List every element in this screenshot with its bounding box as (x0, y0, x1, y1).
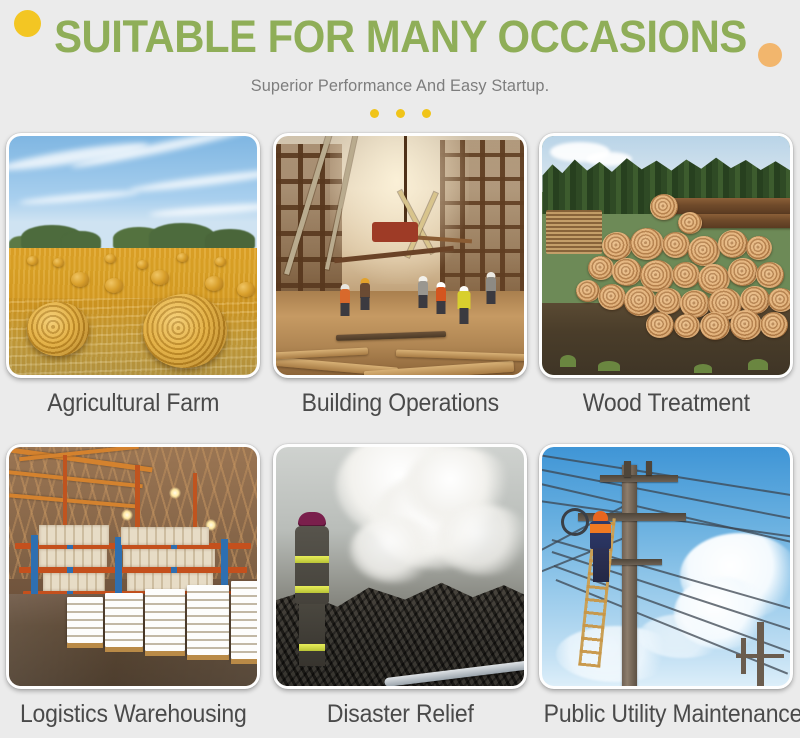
card-caption: Wood Treatment (544, 389, 789, 418)
photo-lineman-utility-pole (542, 447, 790, 686)
grid-cell: Agricultural Farm (0, 133, 267, 418)
grid-cell: Building Operations (267, 133, 534, 418)
occasion-card-building-operations[interactable] (273, 133, 527, 378)
accent-dot-left-icon (14, 10, 41, 37)
grid-cell: Disaster Relief (267, 444, 534, 729)
divider-dots (0, 109, 800, 118)
photo-timber-logs (542, 136, 790, 375)
divider-dot-icon (370, 109, 379, 118)
card-caption: Disaster Relief (277, 700, 522, 729)
occasion-card-logistics-warehousing[interactable] (6, 444, 260, 689)
occasions-grid: Agricultural Farm (0, 133, 800, 729)
accent-dot-right-icon (758, 43, 782, 67)
page-subtitle: Superior Performance And Easy Startup. (16, 76, 784, 96)
card-caption: Agricultural Farm (11, 389, 256, 418)
photo-hay-field (9, 136, 257, 375)
occasion-card-agricultural-farm[interactable] (6, 133, 260, 378)
page-title: SUITABLE FOR MANY OCCASIONS (54, 14, 747, 59)
banner-header: SUITABLE FOR MANY OCCASIONS Superior Per… (0, 0, 800, 118)
occasion-card-disaster-relief[interactable] (273, 444, 527, 689)
divider-dot-icon (422, 109, 431, 118)
grid-row: Agricultural Farm (0, 133, 800, 418)
title-block: SUITABLE FOR MANY OCCASIONS (28, 14, 773, 59)
grid-row: Logistics Warehousing (0, 444, 800, 729)
grid-cell: Public Utility Maintenance (533, 444, 800, 729)
divider-dot-icon (396, 109, 405, 118)
photo-warehouse-interior (9, 447, 257, 686)
occasion-card-public-utility-maintenance[interactable] (539, 444, 793, 689)
card-caption: Building Operations (277, 389, 522, 418)
photo-construction-site (276, 136, 524, 375)
occasion-card-wood-treatment[interactable] (539, 133, 793, 378)
grid-cell: Logistics Warehousing (0, 444, 267, 729)
card-caption: Logistics Warehousing (11, 700, 256, 729)
grid-cell: Wood Treatment (533, 133, 800, 418)
photo-firefighter-smoke (276, 447, 524, 686)
card-caption: Public Utility Maintenance (544, 700, 789, 729)
